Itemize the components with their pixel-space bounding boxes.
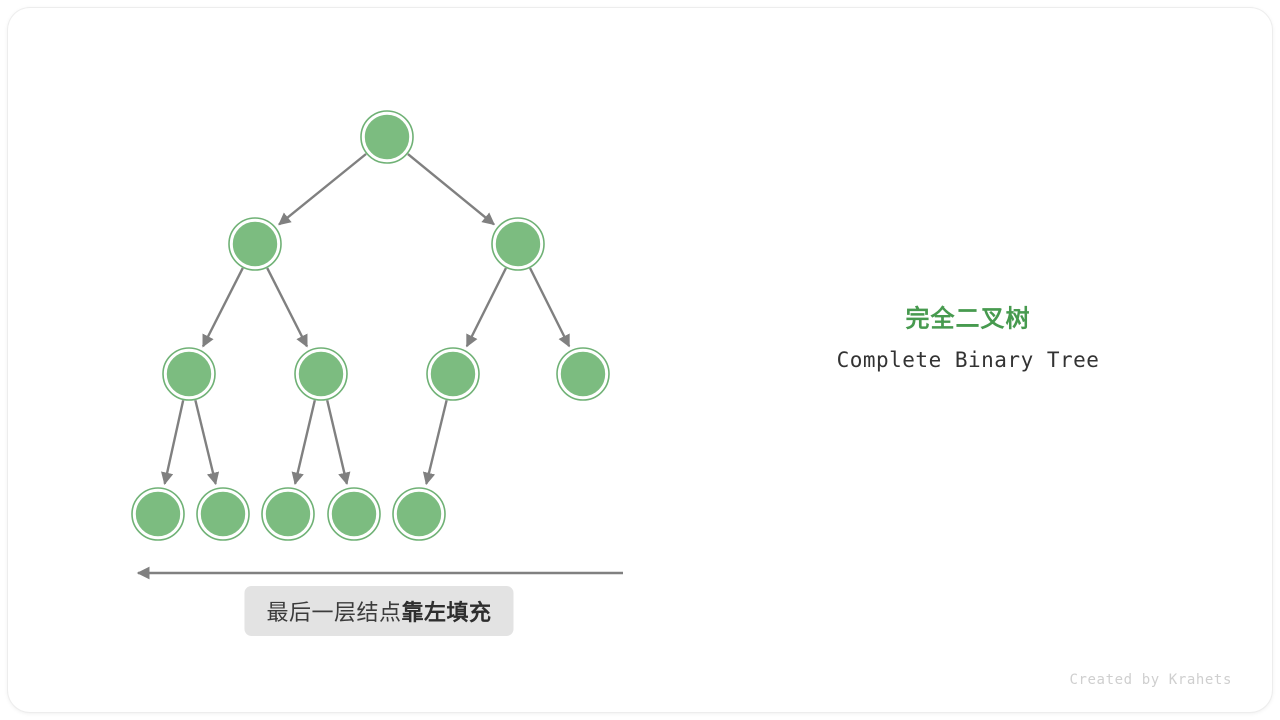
figure-title-chinese: 完全二叉树 (906, 299, 1031, 334)
tree-node-circle (135, 491, 181, 537)
tree-node-circle (166, 351, 212, 397)
tree-node-circle (560, 351, 606, 397)
tree-edge (203, 268, 243, 346)
tree-edge (267, 268, 307, 346)
tree-edge (530, 268, 569, 346)
caption-emphasis-text: 靠左填充 (402, 600, 492, 625)
tree-node (295, 348, 347, 400)
tree-node-circle (364, 114, 410, 160)
last-level-caption: 最后一层结点靠左填充 (244, 586, 513, 636)
tree-edge (426, 400, 446, 484)
tree-node-circle (495, 221, 541, 267)
tree-node (492, 218, 544, 270)
tree-node-circle (331, 491, 377, 537)
tree-node-circle (396, 491, 442, 537)
tree-node (262, 488, 314, 540)
tree-node (229, 218, 281, 270)
tree-node (557, 348, 609, 400)
tree-edge (195, 400, 215, 484)
tree-node (393, 488, 445, 540)
tree-edge (467, 268, 506, 346)
tree-node-circle (430, 351, 476, 397)
tree-edge (295, 400, 315, 484)
tree-node (132, 488, 184, 540)
tree-node (427, 348, 479, 400)
tree-node-layer (132, 111, 609, 540)
tree-edge (165, 400, 183, 483)
tree-node (361, 111, 413, 163)
credit-text: Created by Krahets (1069, 672, 1232, 688)
tree-node-circle (298, 351, 344, 397)
tree-node-circle (200, 491, 246, 537)
tree-node (197, 488, 249, 540)
tree-edge (279, 154, 366, 224)
tree-edge-layer (165, 154, 569, 484)
figure-card: 完全二叉树 Complete Binary Tree 最后一层结点靠左填充 Cr… (8, 8, 1272, 712)
figure-title-english: Complete Binary Tree (837, 348, 1100, 372)
caption-prefix-text: 最后一层结点 (266, 600, 401, 625)
tree-node-circle (265, 491, 311, 537)
tree-node (163, 348, 215, 400)
tree-edge (408, 154, 494, 224)
tree-edge (327, 400, 347, 484)
tree-node-circle (232, 221, 278, 267)
tree-node (328, 488, 380, 540)
